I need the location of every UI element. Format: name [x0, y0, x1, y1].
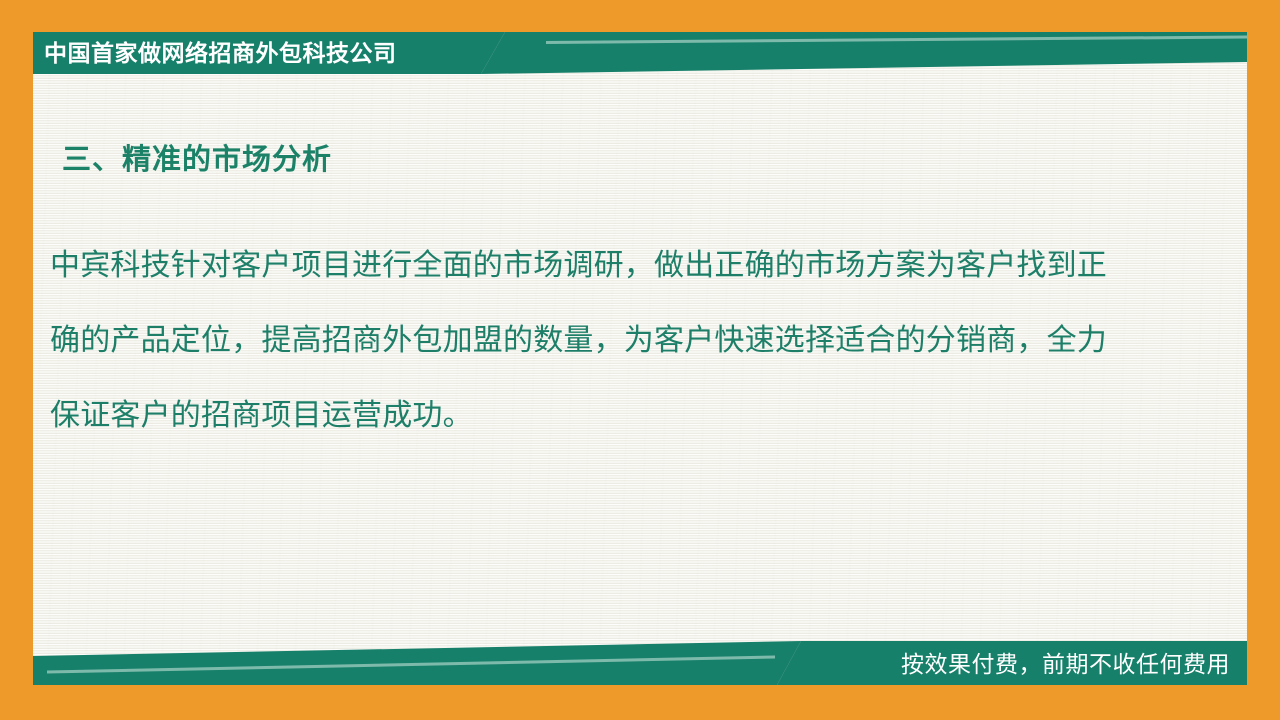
body-paragraph: 中宾科技针对客户项目进行全面的市场调研，做出正确的市场方案为客户找到正 确的产品…	[50, 228, 1185, 453]
footer-tagline: 按效果付费，前期不收任何费用	[901, 648, 1230, 680]
body-line-1: 中宾科技针对客户项目进行全面的市场调研，做出正确的市场方案为客户找到正	[50, 228, 1185, 303]
body-line-3: 保证客户的招商项目运营成功。	[50, 378, 1185, 453]
body-line-2: 确的产品定位，提高招商外包加盟的数量，为客户快速选择适合的分销商，全力	[50, 303, 1185, 378]
presentation-slide: 中国首家做网络招商外包科技公司 三、精准的市场分析 中宾科技针对客户项目进行全面…	[0, 0, 1280, 720]
company-tagline-header: 中国首家做网络招商外包科技公司	[44, 36, 397, 70]
page-title: 三、精准的市场分析	[62, 136, 332, 178]
